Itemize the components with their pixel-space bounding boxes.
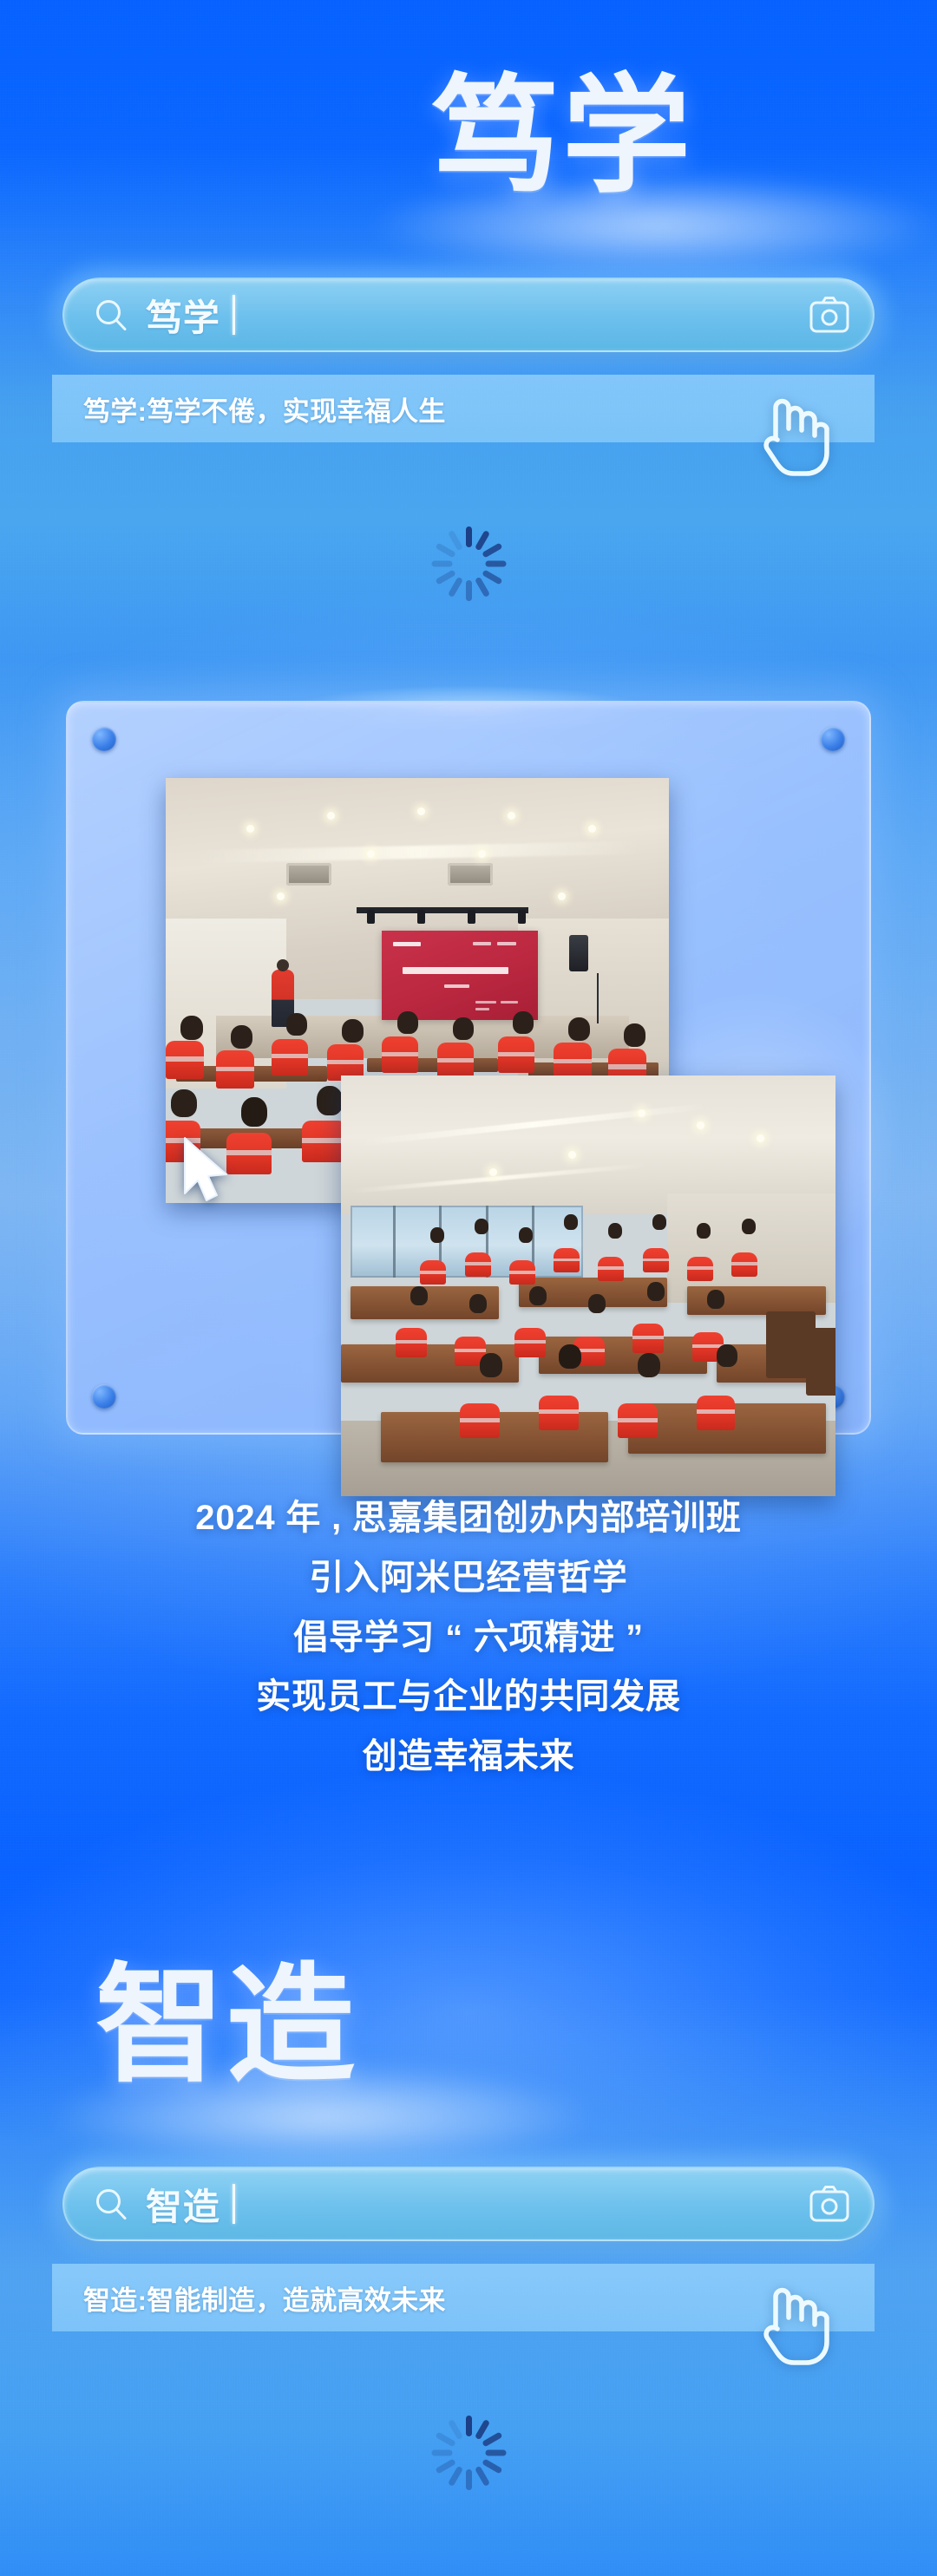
screw-icon-top-right (821, 727, 845, 751)
search-widget-duxue: 笃学 笃学:笃学不倦，实现幸福人生 (62, 278, 875, 442)
caption-line-4: 实现员工与企业的共同发展 (0, 1667, 937, 1727)
photo-a-spotlight (518, 910, 526, 924)
photo-classroom[interactable] (341, 1076, 835, 1496)
search-input-duxue[interactable]: 笃学 (146, 289, 220, 342)
loading-spinner-zhizao (429, 2413, 508, 2493)
suggestion-label-zhizao: 智造:智能制造，造就高效未来 (83, 2279, 446, 2318)
hand-pointer-icon (755, 385, 829, 477)
section-title-duxue: 笃学 (431, 73, 693, 201)
photo-a-spotlight (367, 910, 375, 924)
photo-caption: 2024 年 , 思嘉集团创办内部培训班 引入阿米巴经营哲学 倡导学习 “ 六项… (0, 1488, 937, 1787)
camera-icon[interactable] (809, 295, 850, 335)
caption-line-2: 引入阿米巴经营哲学 (0, 1548, 937, 1608)
photo-a-downlight (478, 850, 486, 858)
mouse-arrow-icon (178, 1134, 233, 1207)
search-suggestion-duxue[interactable]: 笃学:笃学不倦，实现幸福人生 (52, 375, 875, 442)
search-icon (94, 2187, 128, 2221)
section-title-zhizao: 智造 (95, 1962, 357, 2090)
photo-a-vent-2 (448, 863, 493, 886)
photo-b-downlight (757, 1134, 764, 1142)
search-suggestion-zhizao[interactable]: 智造:智能制造，造就高效未来 (52, 2264, 875, 2331)
caption-line-3: 倡导学习 “ 六项精进 ” (0, 1608, 937, 1668)
screw-icon-bottom-left (92, 1384, 116, 1409)
caption-line-1: 2024 年 , 思嘉集团创办内部培训班 (0, 1488, 937, 1548)
photo-a-spotlight (468, 910, 475, 924)
hand-pointer-icon (755, 2274, 829, 2366)
text-caret-zhizao (233, 2184, 235, 2224)
photo-a-downlight (277, 892, 285, 900)
search-bar-duxue[interactable]: 笃学 (62, 278, 875, 352)
photo-a-speaker (569, 935, 588, 971)
photo-a-downlight (246, 825, 254, 833)
search-widget-zhizao: 智造 智造:智能制造，造就高效未来 (62, 2167, 875, 2331)
photo-b-downlight (638, 1109, 645, 1117)
poster-page: 笃学 笃学 笃学:笃学不倦，实现幸福人生 (0, 0, 937, 2576)
photo-a-downlight (327, 812, 335, 820)
search-bar-zhizao[interactable]: 智造 (62, 2167, 875, 2241)
screw-icon-top-left (92, 727, 116, 751)
suggestion-label-duxue: 笃学:笃学不倦，实现幸福人生 (83, 389, 446, 428)
search-icon (94, 297, 128, 332)
photo-a-spotlight (417, 910, 425, 924)
photo-b-downlight (489, 1168, 497, 1176)
photo-a-light-truss (357, 907, 527, 913)
text-caret-duxue (233, 295, 235, 335)
loading-spinner-duxue (429, 524, 508, 604)
search-input-zhizao[interactable]: 智造 (146, 2178, 220, 2231)
photo-card-frame (66, 701, 871, 1435)
caption-line-5: 创造幸福未来 (0, 1727, 937, 1787)
photo-a-vent-1 (286, 863, 331, 886)
camera-icon[interactable] (809, 2184, 850, 2224)
